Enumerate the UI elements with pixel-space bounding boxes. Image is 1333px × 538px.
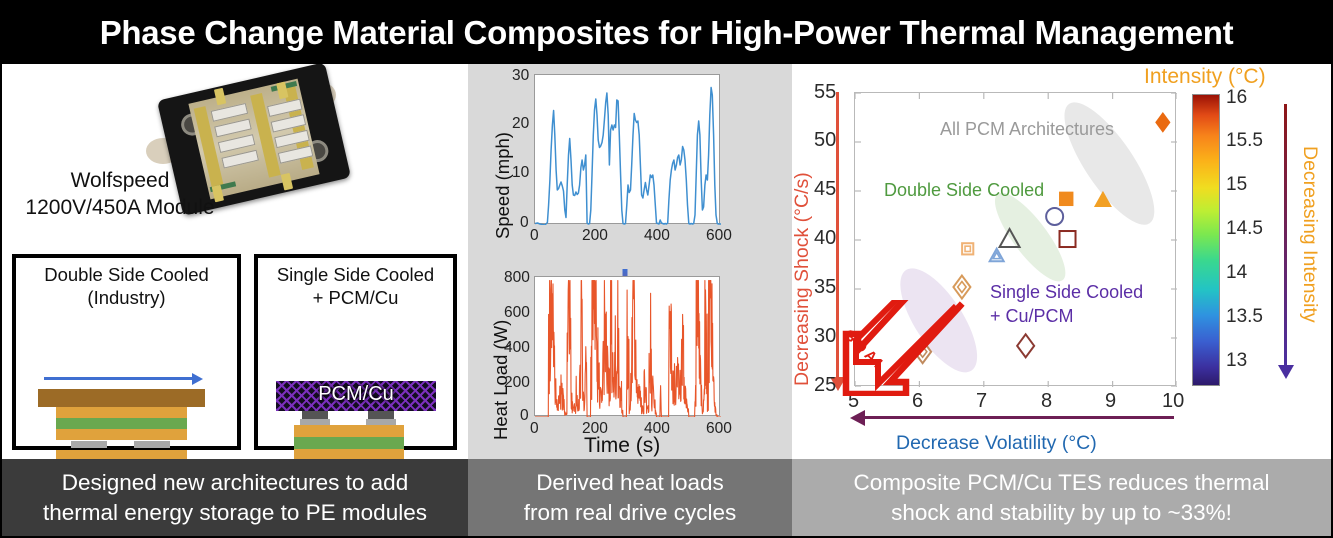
interface-pad xyxy=(368,411,394,419)
scatter-ytick-55: 55 xyxy=(814,81,836,104)
colorbar-tick-14.5: 14.5 xyxy=(1226,218,1263,240)
speed-plot-area xyxy=(534,74,720,224)
group-label-all-pcm: All PCM Architectures xyxy=(940,119,1114,140)
speed-xtick-400: 400 xyxy=(644,227,670,245)
heat-series xyxy=(535,277,721,417)
dbc-layer xyxy=(294,425,404,437)
speed-ytick-30: 30 xyxy=(512,67,529,85)
scatter-marker xyxy=(1060,231,1076,247)
speed-ytick-20: 20 xyxy=(512,115,529,133)
caption2-line1: Derived heat loads xyxy=(524,468,737,498)
scatter-ytick-25: 25 xyxy=(814,374,836,397)
arch-title-single: Single Side Cooled + PCM/Cu xyxy=(258,258,453,309)
pcm-cu-label: PCM/Cu xyxy=(276,383,436,406)
caption2-line2: from real drive cycles xyxy=(524,498,737,528)
speed-ytick-0: 0 xyxy=(520,214,529,232)
colorbar-tick-13.5: 13.5 xyxy=(1226,306,1263,328)
module-caption-line1: Wolfspeed xyxy=(20,167,220,194)
arch-title-double-line2: (Industry) xyxy=(16,286,237,309)
heat-ytick-600: 600 xyxy=(504,304,530,322)
scatter-marker xyxy=(1046,208,1063,225)
speed-xtick-0: 0 xyxy=(530,227,539,245)
panel-architectures: Wolfspeed 1200V/450A Module Double Side … xyxy=(2,64,468,459)
scatter-marker xyxy=(965,246,970,251)
heat-plot-area xyxy=(534,276,720,416)
scatter-xtick-8: 8 xyxy=(1041,390,1052,413)
scatter-marker xyxy=(962,243,973,254)
panel-drive-cycle: Speed (mph) 30 20 10 0 0 200 400 600 xyxy=(468,64,792,459)
scatter-ytick-45: 45 xyxy=(814,178,836,201)
page-title: Phase Change Material Composites for Hig… xyxy=(100,14,1234,52)
speed-chart: Speed (mph) 30 20 10 0 0 200 400 600 xyxy=(468,64,792,264)
speed-series xyxy=(535,75,721,225)
arch-title-single-line1: Single Side Cooled xyxy=(258,263,453,286)
architecture-double-side-cooled: Double Side Cooled (Industry) xyxy=(12,254,241,450)
scatter-ytick-40: 40 xyxy=(814,227,836,250)
heat-ytick-0: 0 xyxy=(520,407,529,425)
die-layer xyxy=(56,418,187,429)
dbc-layer xyxy=(56,450,187,459)
module-die xyxy=(221,150,259,169)
graphical-abstract: Phase Change Material Composites for Hig… xyxy=(0,0,1333,538)
interface-pad xyxy=(302,411,328,419)
colorbar xyxy=(1192,94,1220,386)
arch-title-double: Double Side Cooled (Industry) xyxy=(16,258,237,309)
dbc-layer xyxy=(56,429,187,440)
speed-xtick-600: 600 xyxy=(706,227,732,245)
panel-row: Wolfspeed 1200V/450A Module Double Side … xyxy=(2,64,1331,459)
group-label-double-side: Double Side Cooled xyxy=(884,180,1044,201)
heat-xtick-600: 600 xyxy=(706,420,732,438)
colorbar-tick-13: 13 xyxy=(1226,350,1247,372)
scatter-marker xyxy=(953,276,970,299)
copper-cooler-top xyxy=(38,389,205,407)
scatter-xtick-7: 7 xyxy=(976,390,987,413)
caption-results: Composite PCM/Cu TES reduces thermal sho… xyxy=(792,459,1331,536)
scatter-marker xyxy=(1059,192,1073,206)
panel-results-scatter: Intensity (°C) Decreasing Shock (°C/s) D… xyxy=(792,64,1331,459)
decreasing-shock-arrow xyxy=(836,92,839,378)
caption3-line1: Composite PCM/Cu TES reduces thermal xyxy=(854,468,1270,498)
colorbar-tick-16: 16 xyxy=(1226,87,1247,109)
architecture-single-side-cooled: Single Side Cooled + PCM/Cu PCM/Cu xyxy=(254,254,457,450)
heat-ytick-400: 400 xyxy=(504,339,530,357)
module-caption: Wolfspeed 1200V/450A Module xyxy=(20,167,220,221)
heat-ytick-800: 800 xyxy=(504,269,530,287)
heat-ytick-200: 200 xyxy=(504,374,530,392)
caption-row: Designed new architectures to add therma… xyxy=(2,459,1331,536)
group-label-cu-pcm: + Cu/PCM xyxy=(990,306,1074,327)
scatter-ytick-35: 35 xyxy=(814,276,836,299)
scatter-x-axis-label: Decrease Volatility (°C) xyxy=(896,432,1097,455)
coolant-flow-arrow xyxy=(44,377,194,380)
arch-title-single-line2: + PCM/Cu xyxy=(258,286,453,309)
time-x-axis-label: Time (s) xyxy=(584,434,660,458)
scatter-xtick-9: 9 xyxy=(1105,390,1116,413)
colorbar-tick-15: 15 xyxy=(1226,174,1247,196)
speed-y-axis-label: Speed (mph) xyxy=(492,132,514,239)
pcm-cu-block: PCM/Cu xyxy=(276,381,436,411)
dbc-layer xyxy=(56,407,187,418)
scatter-xtick-10: 10 xyxy=(1162,390,1184,413)
caption3-line2: shock and stability by up to ~33%! xyxy=(854,498,1270,528)
module-caption-line2: 1200V/450A Module xyxy=(20,194,220,221)
colorbar-tick-15.5: 15.5 xyxy=(1226,130,1263,152)
speed-xtick-200: 200 xyxy=(582,227,608,245)
caption1-line1: Designed new architectures to add xyxy=(43,468,427,498)
solder-pad xyxy=(71,441,107,448)
die-layer xyxy=(294,437,404,449)
dbc-layer xyxy=(294,449,404,459)
caption-heat-loads: Derived heat loads from real drive cycle… xyxy=(468,459,792,536)
caption-architectures: Designed new architectures to add therma… xyxy=(2,459,468,536)
scatter-marker xyxy=(1155,112,1170,133)
group-label-single-side: Single Side Cooled xyxy=(990,282,1143,303)
colorbar-tick-14: 14 xyxy=(1226,262,1247,284)
solder-pad xyxy=(134,441,170,448)
decrease-volatility-arrow xyxy=(864,416,1174,419)
caption1-line2: thermal energy storage to PE modules xyxy=(43,498,427,528)
scatter-y-axis-label: Decreasing Shock (°C/s) xyxy=(792,172,814,386)
arch-title-double-line1: Double Side Cooled xyxy=(16,263,237,286)
title-bar: Phase Change Material Composites for Hig… xyxy=(2,2,1331,64)
heat-load-chart: Heat Load (W) 800 600 400 200 0 0 200 40… xyxy=(468,262,792,459)
decreasing-intensity-label: Decreasing Intensity xyxy=(1298,146,1321,323)
colorbar-title: Intensity (°C) xyxy=(1144,65,1266,89)
scatter-marker xyxy=(1017,334,1034,357)
scatter-ytick-50: 50 xyxy=(814,129,836,152)
speed-ytick-10: 10 xyxy=(512,164,529,182)
decreasing-intensity-arrow xyxy=(1284,104,1287,366)
heat-xtick-0: 0 xyxy=(530,420,539,438)
scatter-ytick-30: 30 xyxy=(814,325,836,348)
